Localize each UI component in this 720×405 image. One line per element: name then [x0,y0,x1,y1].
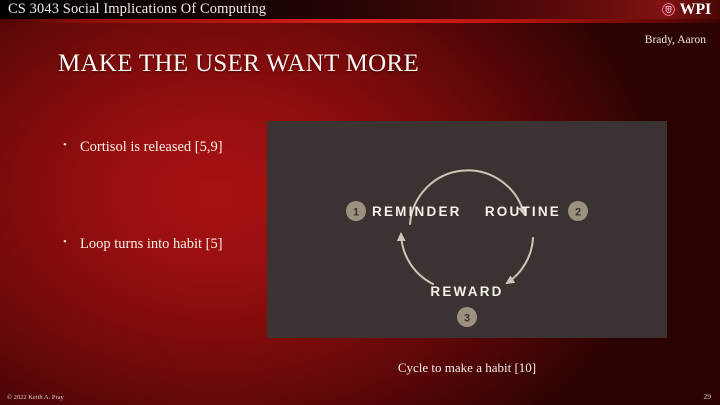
node-label-reminder: REMINDER [372,204,462,219]
header-accent-line [0,19,720,23]
wpi-wordmark: WPI [680,2,711,18]
list-item: • Cortisol is released [5,9] [60,138,265,157]
bullet-marker-icon: • [63,138,67,153]
wpi-logo: WPI [661,0,711,19]
page-number: 29 [704,392,712,401]
copyright-notice: © 2022 Keith A. Pray [7,394,64,401]
presentation-slide: CS 3043 Social Implications Of Computing… [0,0,720,405]
arrow-routine-to-reward [507,238,533,283]
wpi-seal-icon [661,2,676,17]
figure-caption: Cycle to make a habit [10] [267,360,667,376]
node-number-1: 1 [353,207,359,219]
habit-loop-figure: 1 REMINDER ROUTINE 2 REWARD 3 [267,121,667,338]
habit-loop-diagram: 1 REMINDER ROUTINE 2 REWARD 3 [267,121,667,338]
node-number-2: 2 [575,207,581,219]
arrow-reward-to-reminder [401,234,433,284]
node-number-3: 3 [464,313,470,325]
node-label-routine: ROUTINE [485,204,561,219]
bullet-text: Loop turns into habit [5] [80,236,223,252]
bullet-marker-icon: • [63,235,67,250]
list-item: • Loop turns into habit [5] [60,235,265,254]
node-label-reward: REWARD [430,284,503,299]
bullet-text: Cortisol is released [5,9] [80,139,223,155]
author-name: Brady, Aaron [645,34,706,46]
page-title: MAKE THE USER WANT MORE [58,50,419,78]
bullet-list: • Cortisol is released [5,9] • Loop turn… [60,138,265,254]
course-title: CS 3043 Social Implications Of Computing [8,1,266,18]
